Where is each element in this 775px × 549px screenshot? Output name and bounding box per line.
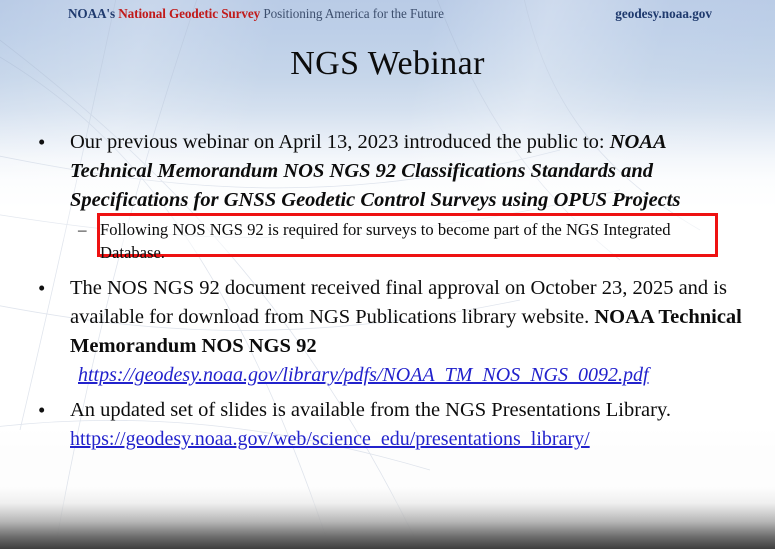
bullet-marker-icon: • <box>38 274 45 303</box>
slide-canvas: NOAA's National Geodetic Survey Position… <box>0 0 775 549</box>
bullet-item-2: • The NOS NGS 92 document received final… <box>0 274 775 361</box>
link-presentations-library[interactable]: https://geodesy.noaa.gov/web/science_edu… <box>70 428 590 450</box>
brand-ngs-label: National Geodetic Survey <box>118 6 260 21</box>
slide-header: NOAA's National Geodetic Survey Position… <box>0 0 775 30</box>
bullet-1-text: Our previous webinar on April 13, 2023 i… <box>70 128 745 215</box>
header-website-label: geodesy.noaa.gov <box>615 6 712 22</box>
link-row-1: https://geodesy.noaa.gov/library/pdfs/NO… <box>0 361 775 390</box>
brand-noaas-label: NOAA's <box>68 6 118 21</box>
brand-tagline-label: Positioning America for the Future <box>260 6 444 21</box>
bullet-1-plain-text: Our previous webinar on April 13, 2023 i… <box>70 131 610 153</box>
slide-body: • Our previous webinar on April 13, 2023… <box>0 128 775 454</box>
bullet-marker-icon: • <box>38 128 45 157</box>
sub-bullet-dash-icon: – <box>78 218 87 241</box>
bullet-item-1: • Our previous webinar on April 13, 2023… <box>0 128 775 215</box>
page-title: NGS Webinar <box>0 45 775 83</box>
bullet-3-text: An updated set of slides is available fr… <box>70 396 745 425</box>
link-noaa-tm-pdf[interactable]: https://geodesy.noaa.gov/library/pdfs/NO… <box>74 364 649 386</box>
noaa-branding: NOAA's National Geodetic Survey Position… <box>68 6 444 22</box>
sub-bullet-item-1: – Following NOS NGS 92 is required for s… <box>0 217 775 264</box>
sub-bullet-1-text: Following NOS NGS 92 is required for sur… <box>100 217 723 264</box>
bullet-2-text: The NOS NGS 92 document received final a… <box>70 274 745 361</box>
bullet-marker-icon: • <box>38 396 45 425</box>
link-row-2: https://geodesy.noaa.gov/web/science_edu… <box>0 425 775 454</box>
bullet-item-3: • An updated set of slides is available … <box>0 396 775 425</box>
